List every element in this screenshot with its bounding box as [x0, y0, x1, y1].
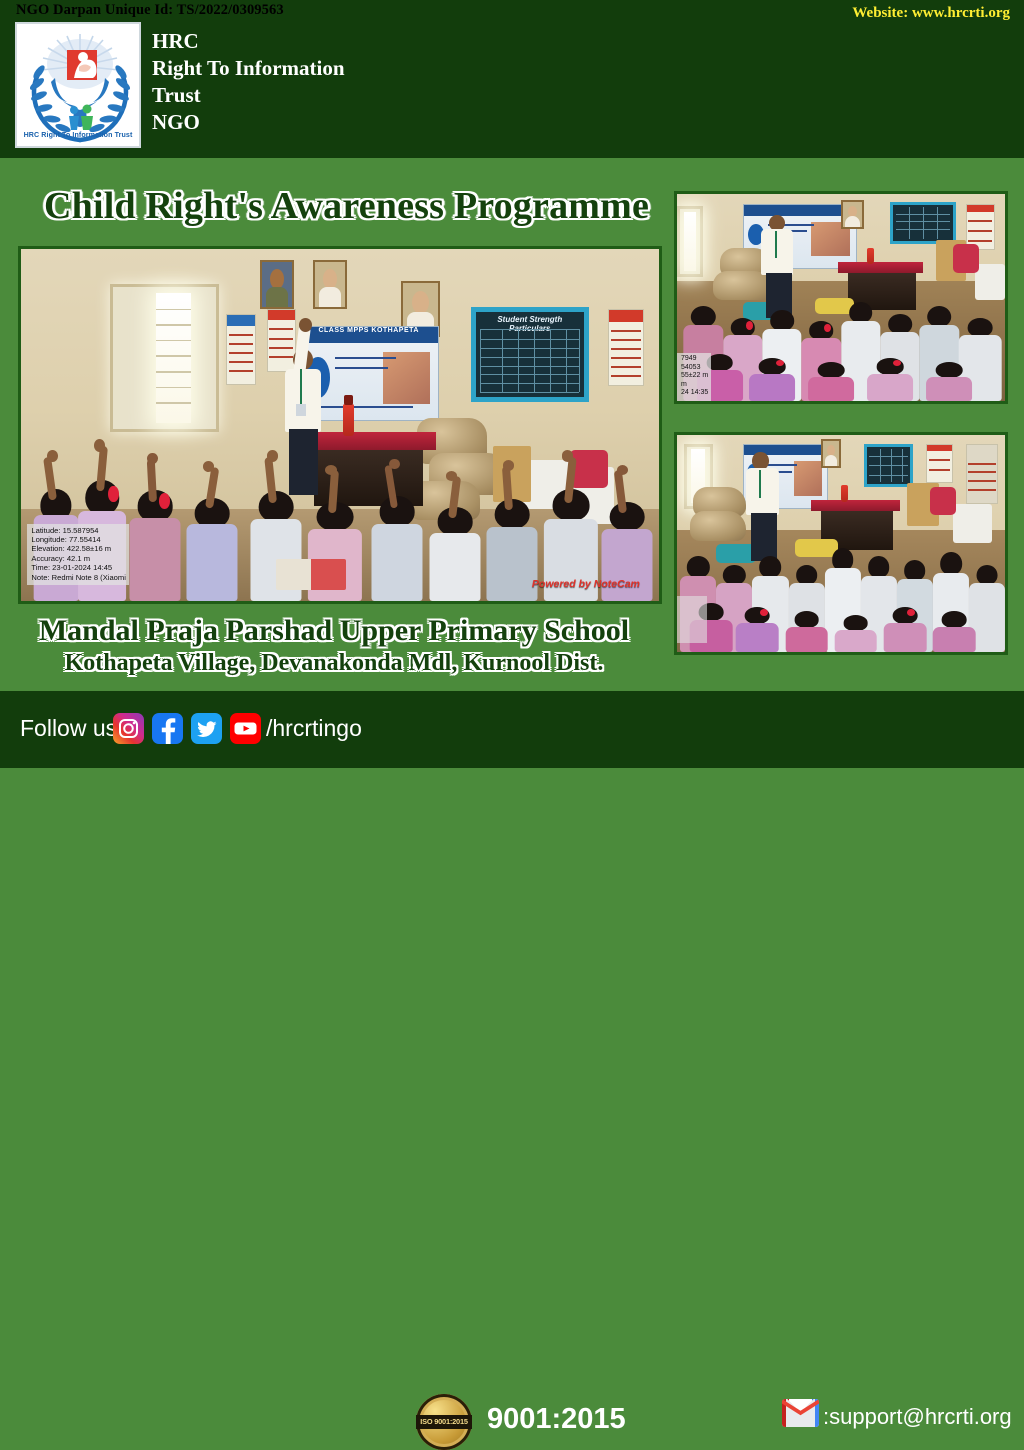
content-panel: Child Right's Awareness Programme [0, 158, 1024, 691]
gmail-icon [782, 1399, 819, 1427]
facebook-icon[interactable] [152, 713, 183, 744]
support-email[interactable]: :support@hrcrti.org [823, 1404, 1012, 1430]
logo-caption: HRC Right To Information Trust [17, 131, 139, 139]
iso-seal-band: ISO 9001:2015 [416, 1415, 472, 1428]
notecam-watermark: Powered by NoteCam [532, 578, 640, 590]
secondary-photo-bottom [674, 432, 1008, 655]
blackboard: Student Strength Particulars [471, 307, 589, 402]
org-line-2: Right To Information [152, 55, 345, 82]
page-title: Child Right's Awareness Programme [44, 184, 649, 228]
gps-elevation: Elevation: 422.58±16 m [31, 544, 126, 553]
follow-us-label: Follow us: [20, 715, 124, 742]
ngo-darpan-id: NGO Darpan Unique Id: TS/2022/0309563 [16, 2, 284, 19]
presenter-body [285, 369, 321, 432]
wall-poster-chart [267, 309, 296, 372]
gps-clip-line-4: m [681, 381, 708, 390]
gps-clip-line-2: 54053 [681, 364, 708, 373]
secondary-photo-top: 7949 54053 55±22 m m 24 14:35 [674, 191, 1008, 404]
org-line-1: HRC [152, 28, 345, 55]
iso-standard-number: 9001:2015 [487, 1403, 626, 1436]
social-handle: /hrcrtingo [266, 715, 362, 742]
page-header: NGO Darpan Unique Id: TS/2022/0309563 We… [0, 0, 1024, 158]
wall-portrait-leader [313, 260, 347, 309]
school-address: Kothapeta Village, Devanakonda Mdl, Kurn… [0, 650, 668, 677]
org-line-3: Trust [152, 82, 345, 109]
gps-time: Time: 23-01-2024 14:45 [31, 563, 126, 572]
gps-clip-line-5: 24 14:35 [681, 389, 708, 398]
wall-poster-right [608, 309, 644, 386]
youtube-icon[interactable] [230, 713, 261, 744]
hrc-emblem-icon [17, 24, 141, 148]
gps-clip-line-3: 55±22 m [681, 372, 708, 381]
gps-overlay-clipped: 7949 54053 55±22 m m 24 14:35 [677, 353, 711, 401]
website-link[interactable]: Website: www.hrcrti.org [852, 5, 1010, 22]
hrc-logo: HRC Right To Information Trust [15, 22, 141, 148]
gps-latitude: Latitude: 15.587954 [31, 526, 126, 535]
wall-portrait-soldier [260, 260, 294, 309]
iso-certification-seal: ISO 9001:2015 [416, 1394, 472, 1450]
gps-overlay: Latitude: 15.587954 Longitude: 77.55414 … [27, 524, 129, 585]
organization-name: HRC Right To Information Trust NGO [152, 28, 345, 136]
gps-note: Note: Redmi Note 8 (Xiaomi [31, 573, 126, 582]
gps-overlay-partial [677, 596, 707, 644]
school-name: Mandal Praja Parshad Upper Primary Schoo… [0, 614, 668, 648]
gps-longitude: Longitude: 77.55414 [31, 535, 126, 544]
gps-clip-line-1: 7949 [681, 355, 708, 364]
twitter-icon[interactable] [191, 713, 222, 744]
gps-accuracy: Accuracy: 42.1 m [31, 554, 126, 563]
instagram-icon[interactable] [113, 713, 144, 744]
org-line-4: NGO [152, 109, 345, 136]
wall-poster-left [226, 314, 255, 384]
main-photo: CLASS MPPS KOTHAPETA Student Strength Pa… [18, 246, 662, 604]
page-footer: Follow us: /hrcrtingo ISO 9001:2015 9001… [0, 691, 1024, 768]
banner-title: CLASS MPPS KOTHAPETA [300, 327, 438, 343]
